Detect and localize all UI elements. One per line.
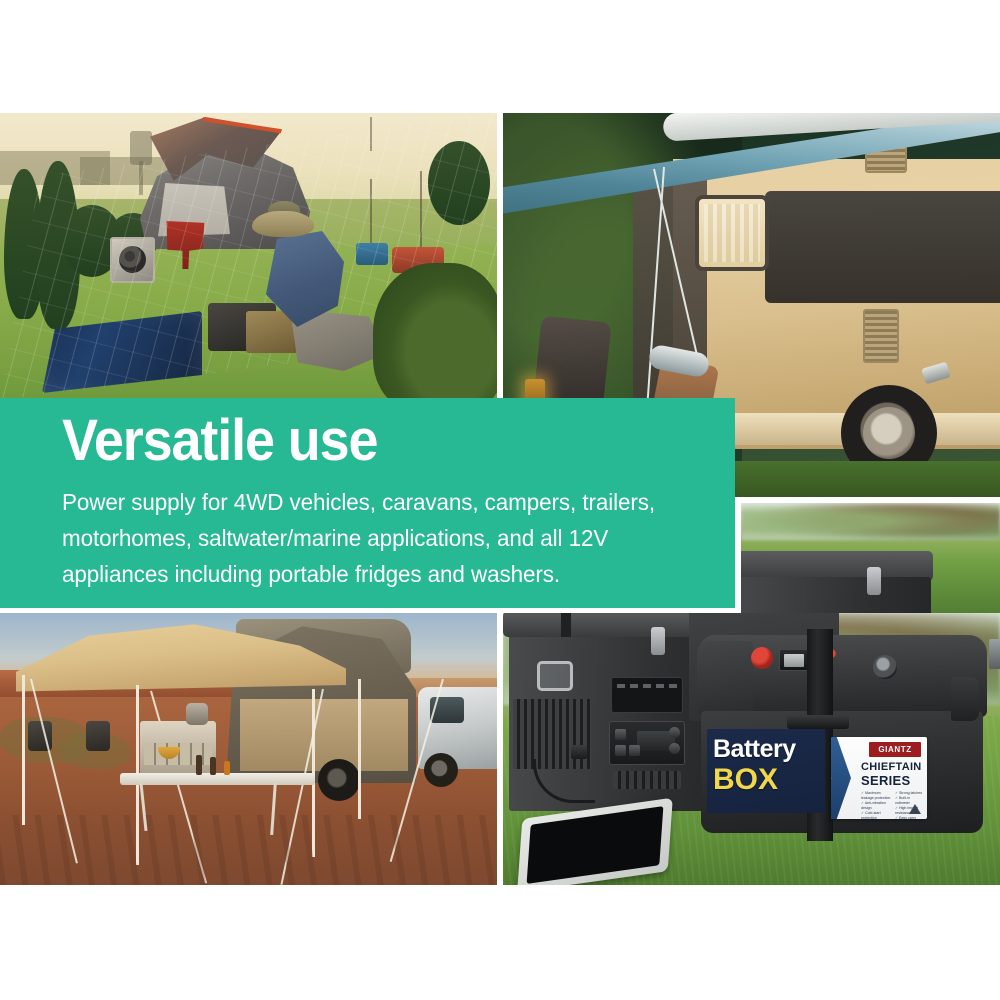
battery-label-text: Battery bbox=[713, 737, 796, 762]
person-hat-brim bbox=[252, 211, 314, 237]
fridge-side-handle bbox=[537, 661, 573, 691]
fridge-body-upper bbox=[741, 577, 931, 613]
side-vent bbox=[951, 677, 979, 721]
giantz-logo: GIANTZ bbox=[869, 742, 921, 757]
fridge-lid-seam bbox=[561, 613, 571, 637]
trailer-tent-wall bbox=[240, 699, 408, 771]
fridge-info-plate bbox=[611, 677, 683, 713]
camp-chair bbox=[86, 721, 110, 751]
folding-table bbox=[120, 773, 315, 785]
bottle bbox=[224, 761, 230, 775]
photo-camping-solar-scene bbox=[0, 113, 497, 400]
chevron-graphic bbox=[831, 737, 851, 819]
series-name-line1: CHIEFTAIN bbox=[861, 761, 922, 773]
awning-post bbox=[358, 679, 361, 819]
fridge-button bbox=[669, 743, 680, 754]
strap-handle-clip bbox=[787, 715, 849, 729]
recycle-triangle-icon bbox=[909, 804, 921, 814]
blurred-trees bbox=[741, 503, 1000, 540]
trailer-wheel bbox=[318, 759, 360, 801]
bottle bbox=[196, 755, 202, 775]
red-terminal-knob bbox=[751, 647, 773, 669]
photo-outback-camper-trailer-scene bbox=[0, 613, 497, 885]
fridge-power-socket bbox=[571, 745, 587, 759]
feature-list-left: ✓ Maximum leakage protection ✓ Anti-vibr… bbox=[861, 791, 891, 819]
banner-description: Power supply for 4WD vehicles, caravans,… bbox=[62, 484, 692, 592]
photo-product-upper-sliver bbox=[741, 503, 1000, 613]
fridge-lid-latch bbox=[651, 627, 665, 655]
awning-post bbox=[22, 675, 25, 825]
battery-box-product: Battery BOX GIANTZ CHIEFTAIN SERIES ✓ Ma… bbox=[699, 619, 995, 877]
series-name-line2: SERIES bbox=[861, 773, 910, 788]
foreground-bush bbox=[373, 263, 497, 400]
fridge-latch-upper bbox=[867, 567, 881, 595]
side-latch-clip bbox=[989, 639, 1000, 669]
cigarette-socket bbox=[873, 655, 897, 679]
promo-text-band: Versatile use Power supply for 4WD vehic… bbox=[0, 398, 735, 608]
fridge-button bbox=[615, 745, 626, 756]
photo-fridge-battery-box-product: Battery BOX GIANTZ CHIEFTAIN SERIES ✓ Ma… bbox=[503, 613, 1000, 885]
caravan-dark-window-strip bbox=[765, 191, 1000, 303]
tow-vehicle-wheel bbox=[424, 753, 458, 787]
fridge-button bbox=[615, 729, 626, 740]
caravan-lit-window bbox=[695, 195, 769, 271]
bottle bbox=[210, 757, 216, 775]
tyre-tracks bbox=[0, 815, 497, 885]
fridge-lower-vent bbox=[613, 771, 681, 789]
caravan-side-vent bbox=[863, 309, 899, 363]
cooking-pot bbox=[186, 703, 208, 725]
battery-box-lid-left bbox=[697, 641, 753, 715]
fridge-button bbox=[669, 727, 680, 738]
fridge-button bbox=[629, 745, 640, 756]
chieftain-series-label: GIANTZ CHIEFTAIN SERIES ✓ Maximum leakag… bbox=[831, 737, 927, 819]
box-label-text: BOX bbox=[713, 765, 778, 795]
page-title: Versatile use bbox=[62, 412, 377, 470]
marketing-banner: Battery BOX GIANTZ CHIEFTAIN SERIES ✓ Ma… bbox=[0, 0, 1000, 1000]
